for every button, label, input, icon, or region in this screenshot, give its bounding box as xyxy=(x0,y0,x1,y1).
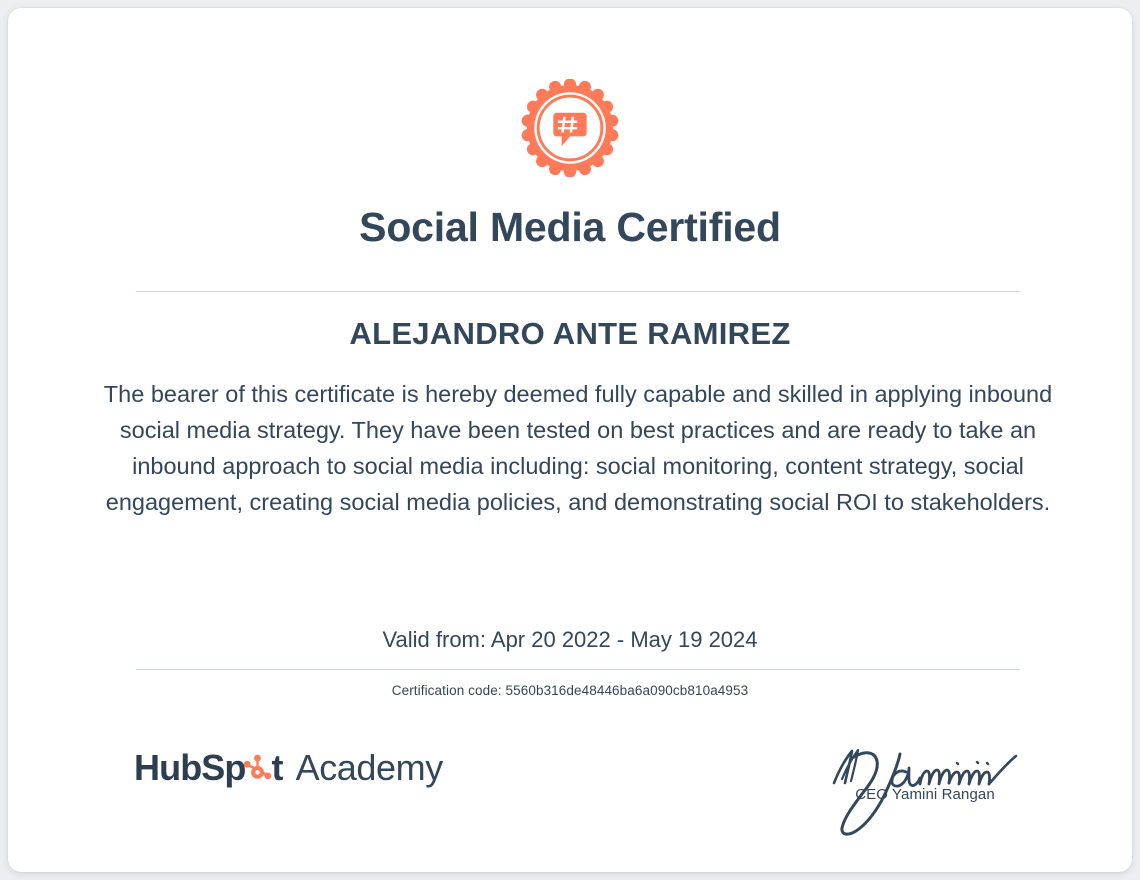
hubspot-wordmark-hub: Hub xyxy=(134,750,201,786)
certificate-badge xyxy=(8,80,1132,176)
hubspot-wordmark: Hub Sp t xyxy=(134,750,283,786)
signature-block: CEO Yamini Rangan xyxy=(820,736,1030,841)
academy-wordmark: Academy xyxy=(296,750,443,786)
divider-above-code xyxy=(136,669,1020,670)
certificate-card: Social Media Certified ALEJANDRO ANTE RA… xyxy=(8,8,1132,872)
validity-period: Valid from: Apr 20 2022 - May 19 2024 xyxy=(8,627,1132,653)
certificate-title: Social Media Certified xyxy=(8,204,1132,251)
recipient-name: ALEJANDRO ANTE RAMIREZ xyxy=(8,316,1132,352)
certification-code: Certification code: 5560b316de48446ba6a0… xyxy=(8,683,1132,698)
certificate-description: The bearer of this certificate is hereby… xyxy=(103,376,1053,520)
hubspot-sprocket-icon xyxy=(242,754,273,785)
hubspot-academy-logo: Hub Sp t Academy xyxy=(134,750,443,786)
hubspot-wordmark-sp: Sp xyxy=(201,750,245,786)
divider-above-recipient xyxy=(136,291,1020,292)
social-media-badge-icon xyxy=(521,79,619,177)
signature-caption: CEO Yamini Rangan xyxy=(820,786,1030,803)
